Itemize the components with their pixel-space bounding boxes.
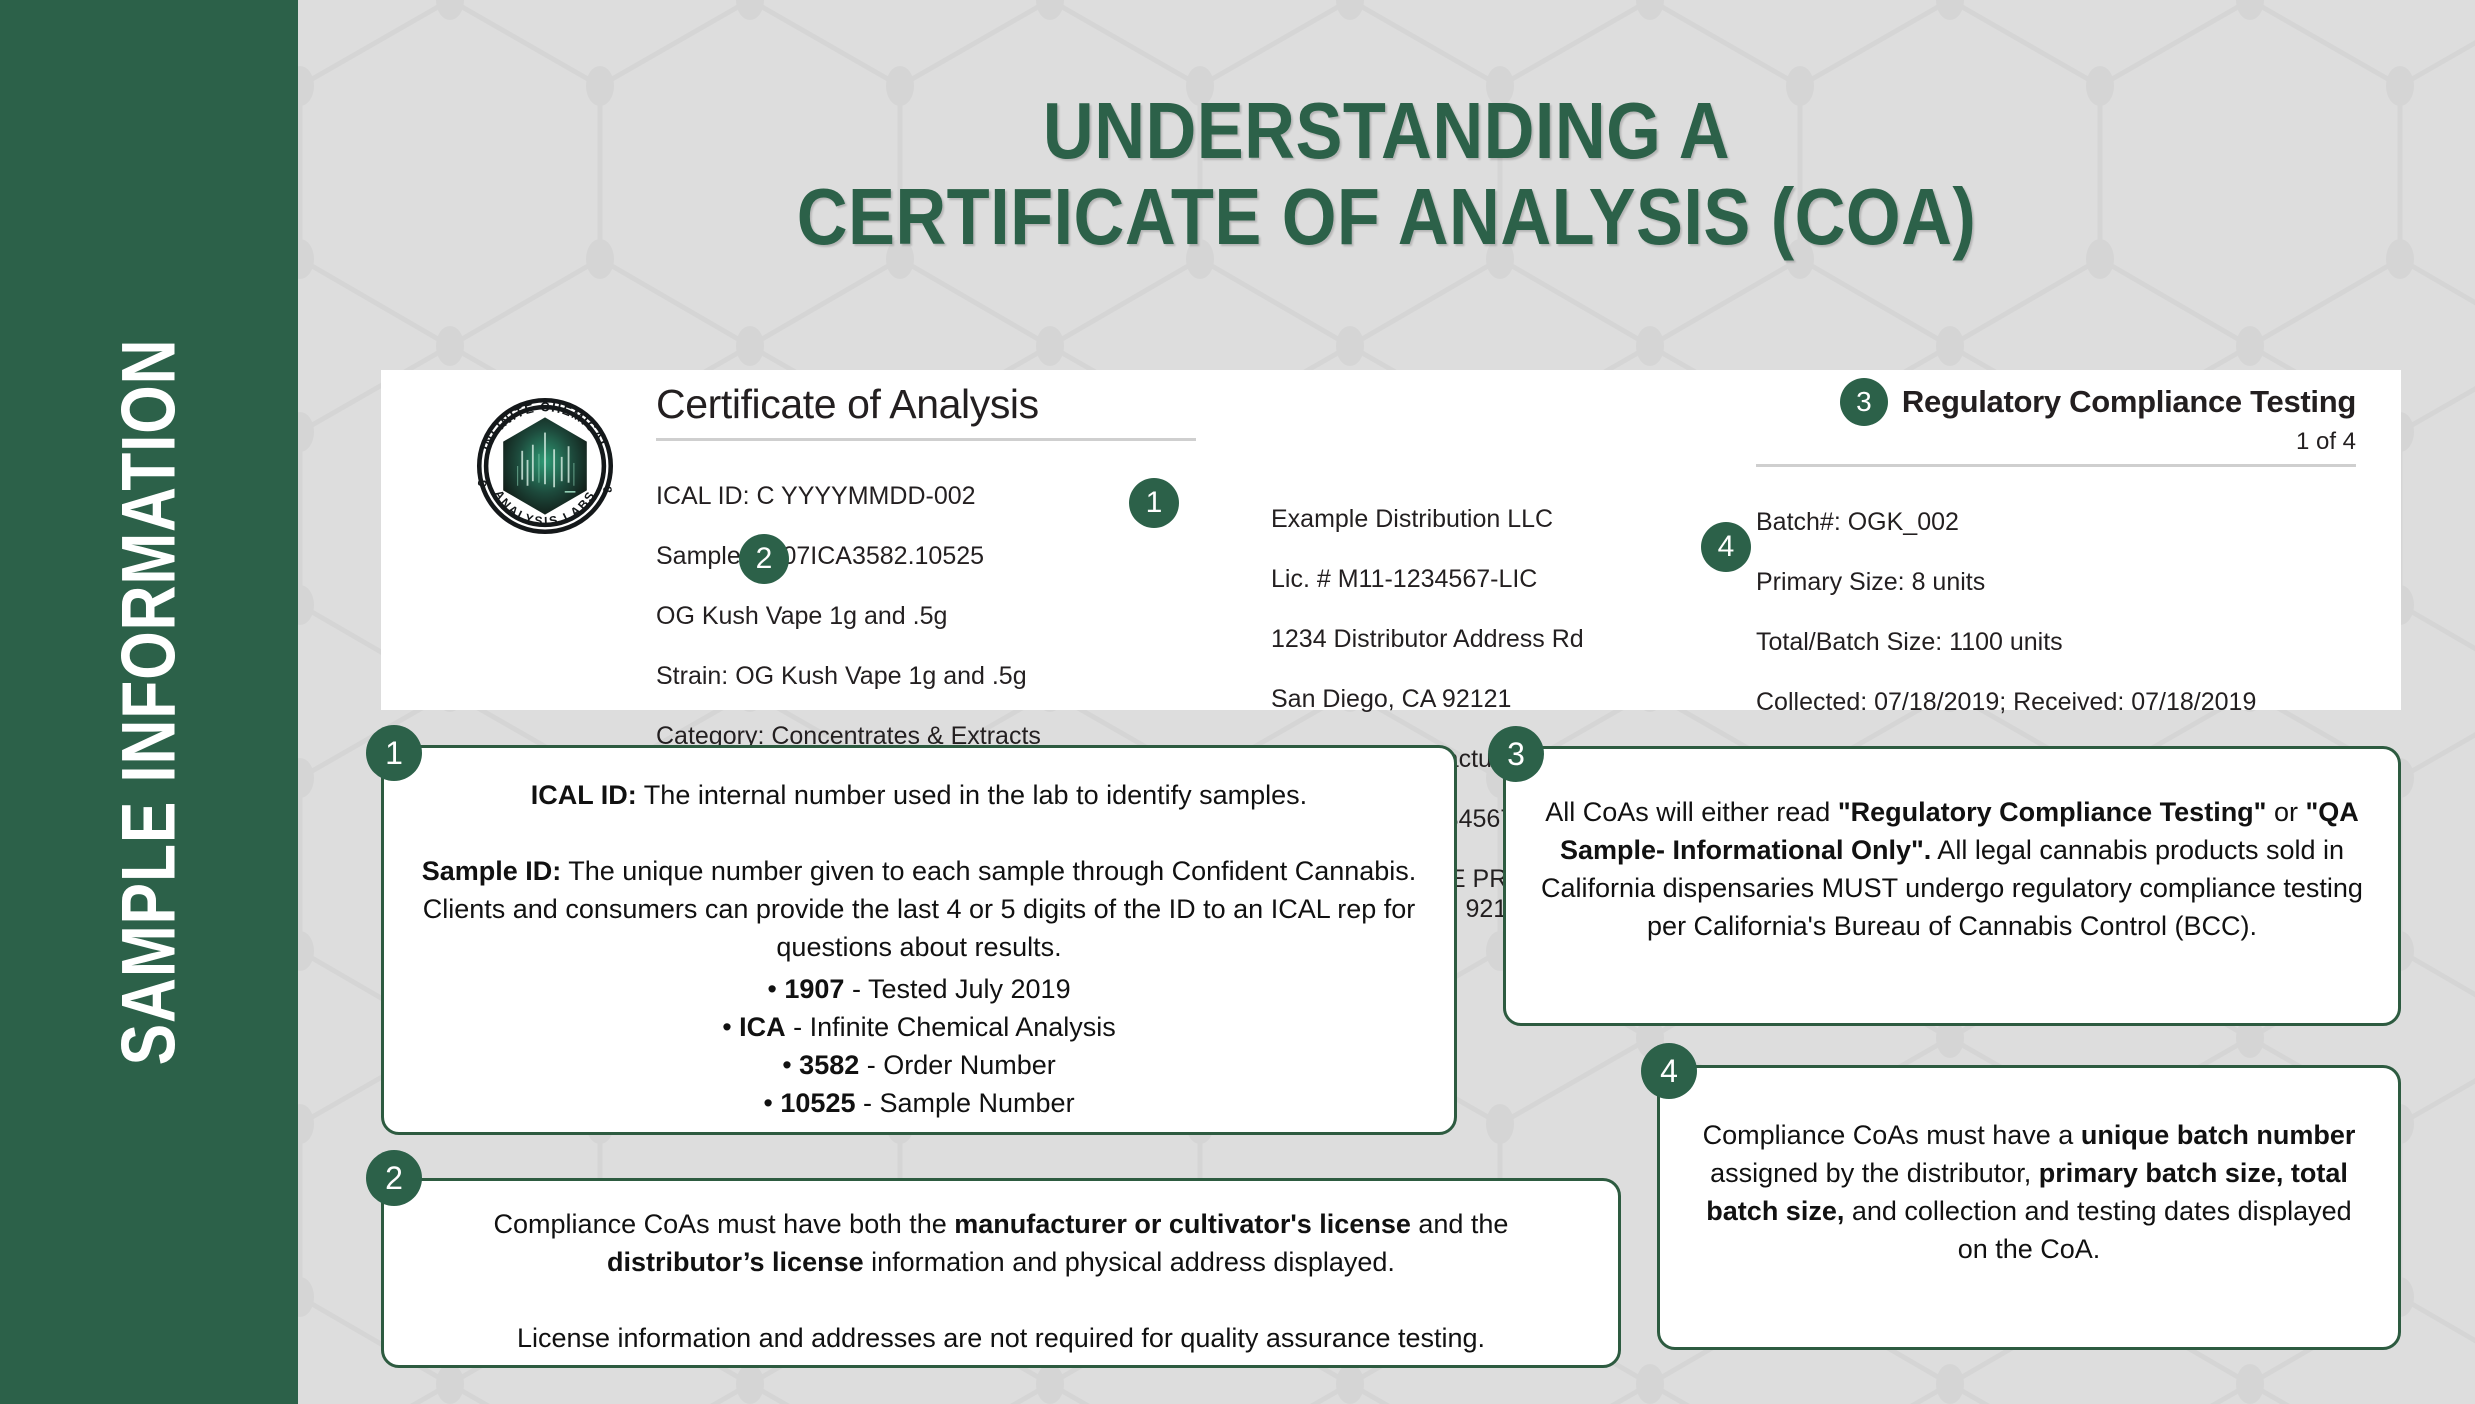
callout-1-bullet-list: • 1907 - Tested July 2019 • ICA - Infini… <box>418 970 1420 1122</box>
coa-total-size: Total/Batch Size: 1100 units <box>1756 627 2356 657</box>
bullet-2-rest: - Infinite Chemical Analysis <box>786 1012 1116 1042</box>
coa-sample-details: ICAL ID: C YYYYMMDD-002 Sample: 1907ICA3… <box>656 451 1196 781</box>
callout-3-paragraph: All CoAs will either read "Regulatory Co… <box>1540 793 2364 945</box>
callout-2-bold-2: distributor’s license <box>607 1247 864 1277</box>
sidebar-title: SAMPLE INFORMATION <box>106 339 193 1066</box>
callout-4-text-b: assigned by the distributor, <box>1710 1158 2039 1188</box>
badge-2-callout: 2 <box>366 1150 422 1206</box>
bullet-2-lead: ICA <box>739 1012 786 1042</box>
callout-box-3: All CoAs will either read "Regulatory Co… <box>1503 746 2401 1026</box>
list-item: • ICA - Infinite Chemical Analysis <box>418 1008 1420 1046</box>
callout-1-term-sample-id: Sample ID: <box>422 856 562 886</box>
list-item: • 3582 - Order Number <box>418 1046 1420 1084</box>
coa-heading-divider <box>656 438 1196 441</box>
badge-2-coa: 2 <box>739 534 789 584</box>
coa-testing-type-row: 3 Regulatory Compliance Testing <box>1756 378 2356 426</box>
coa-batch-number: Batch#: OGK_002 <box>1756 507 2356 537</box>
callout-1-paragraph-2: Sample ID: The unique number given to ea… <box>418 852 1420 966</box>
callout-4-paragraph: Compliance CoAs must have a unique batch… <box>1694 1116 2364 1268</box>
coa-primary-size: Primary Size: 8 units <box>1756 567 2356 597</box>
badge-4-callout: 4 <box>1641 1043 1697 1099</box>
coa-batch-column: 3 Regulatory Compliance Testing 1 of 4 B… <box>1756 378 2356 807</box>
coa-sample-card: INFINITE CHEMICAL ANALYSIS LABS 8 8 Cert… <box>381 370 2401 710</box>
callout-4-body: Compliance CoAs must have a unique batch… <box>1660 1068 2398 1268</box>
badge-3-inline: 3 <box>1840 378 1888 426</box>
page-title-line-2: CERTIFICATE OF ANALYSIS (COA) <box>429 174 2345 260</box>
callout-1-spacer <box>418 814 1420 852</box>
callout-box-4: Compliance CoAs must have a unique batch… <box>1657 1065 2401 1350</box>
coa-collected: Collected: 07/18/2019; Received: 07/18/2… <box>1756 687 2356 717</box>
callout-4-text-c: and collection and testing dates display… <box>1844 1196 2351 1264</box>
callout-3-text-a: All CoAs will either read <box>1545 797 1838 827</box>
callout-2-paragraph-2: License information and addresses are no… <box>418 1319 1584 1357</box>
callout-1-text-ical-id: The internal number used in the lab to i… <box>637 780 1307 810</box>
callout-2-spacer <box>418 1281 1584 1319</box>
callout-3-text-b: or <box>2266 797 2305 827</box>
coa-strain: Strain: OG Kush Vape 1g and .5g <box>656 661 1196 691</box>
callout-4-text-a: Compliance CoAs must have a <box>1703 1120 2081 1150</box>
coa-sample-identity-column: Certificate of Analysis ICAL ID: C YYYYM… <box>656 378 1196 781</box>
poster-page: SAMPLE INFORMATION UNDERSTANDING A CERTI… <box>0 0 2475 1404</box>
page-title-line-1: UNDERSTANDING A <box>429 88 2345 174</box>
bullet-4-lead: 10525 <box>780 1088 855 1118</box>
badge-1-callout: 1 <box>366 725 422 781</box>
coa-heading: Certificate of Analysis <box>656 378 1196 430</box>
bullet-4-rest: - Sample Number <box>855 1088 1074 1118</box>
callout-2-text-a: Compliance CoAs must have both the <box>494 1209 955 1239</box>
coa-ical-id: ICAL ID: C YYYYMMDD-002 <box>656 481 1196 511</box>
page-title: UNDERSTANDING A CERTIFICATE OF ANALYSIS … <box>298 88 2475 260</box>
coa-testing-type: Regulatory Compliance Testing <box>1902 384 2356 420</box>
bullet-3-rest: - Order Number <box>859 1050 1056 1080</box>
badge-1-coa: 1 <box>1129 478 1179 528</box>
coa-sample-id: Sample: 1907ICA3582.10525 <box>656 541 1196 571</box>
infinite-chemical-analysis-labs-logo: INFINITE CHEMICAL ANALYSIS LABS 8 8 <box>469 390 621 542</box>
callout-2-text-b: and the <box>1411 1209 1509 1239</box>
coa-batch-divider <box>1756 464 2356 467</box>
list-item: • 1907 - Tested July 2019 <box>418 970 1420 1008</box>
badge-4-coa: 4 <box>1701 522 1751 572</box>
coa-distributor-name: Example Distribution LLC <box>1271 504 1751 534</box>
coa-distributor-street: 1234 Distributor Address Rd <box>1271 624 1751 654</box>
callout-1-term-ical-id: ICAL ID: <box>531 780 637 810</box>
svg-text:8: 8 <box>600 485 615 494</box>
list-item: • 10525 - Sample Number <box>418 1084 1420 1122</box>
bullet-1-rest: - Tested July 2019 <box>844 974 1070 1004</box>
callout-3-body: All CoAs will either read "Regulatory Co… <box>1506 749 2398 945</box>
sidebar: SAMPLE INFORMATION <box>0 0 298 1404</box>
callout-2-text-c: information and physical address display… <box>864 1247 1395 1277</box>
callout-box-1: ICAL ID: The internal number used in the… <box>381 745 1457 1135</box>
callout-1-paragraph-1: ICAL ID: The internal number used in the… <box>418 776 1420 814</box>
coa-page-count: 1 of 4 <box>1756 428 2356 456</box>
callout-2-paragraph-1: Compliance CoAs must have both the manuf… <box>418 1205 1584 1281</box>
coa-product: OG Kush Vape 1g and .5g <box>656 601 1196 631</box>
coa-distributor-license: Lic. # M11-1234567-LIC <box>1271 564 1751 594</box>
callout-2-body: Compliance CoAs must have both the manuf… <box>384 1181 1618 1357</box>
badge-3-callout: 3 <box>1488 726 1544 782</box>
callout-4-bold-1: unique batch number <box>2081 1120 2356 1150</box>
callout-1-text-sample-id: The unique number given to each sample t… <box>423 856 1417 962</box>
callout-1-body: ICAL ID: The internal number used in the… <box>384 748 1454 1122</box>
callout-box-2: Compliance CoAs must have both the manuf… <box>381 1178 1621 1368</box>
bullet-1-lead: 1907 <box>784 974 844 1004</box>
callout-2-bold-1: manufacturer or cultivator's license <box>954 1209 1411 1239</box>
callout-3-bold-1: "Regulatory Compliance Testing" <box>1838 797 2267 827</box>
coa-distributor-city: San Diego, CA 92121 <box>1271 684 1751 714</box>
bullet-3-lead: 3582 <box>799 1050 859 1080</box>
